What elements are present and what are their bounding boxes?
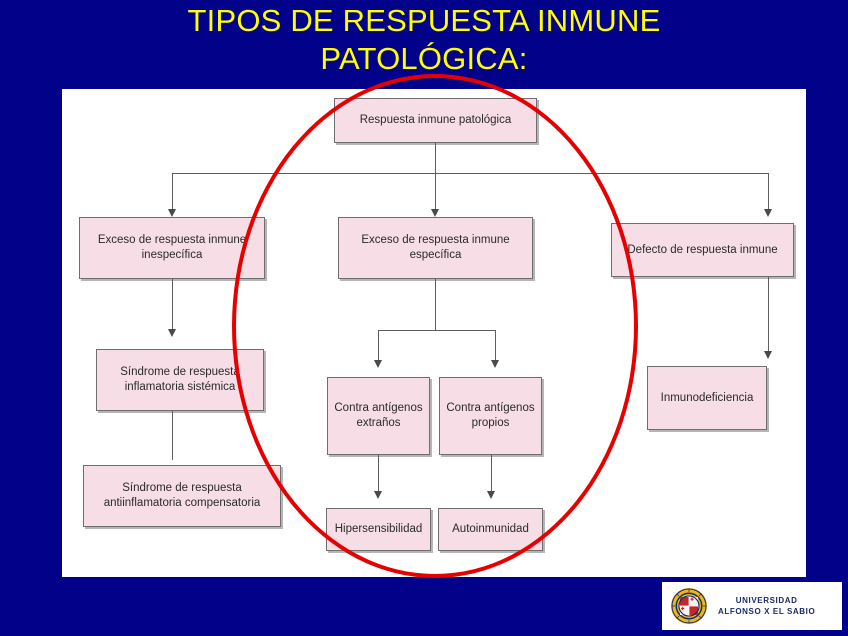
node-contra-antigenos-extranos[interactable]: Contra antígenos extraños — [327, 377, 430, 455]
node-label: Contra antígenos extraños — [334, 401, 422, 431]
node-autoinmunidad[interactable]: Autoinmunidad — [438, 508, 543, 551]
connector-especifica-stem — [435, 279, 436, 330]
node-label: Síndrome de respuesta inflamatoria sisté… — [120, 365, 240, 395]
arrowhead-to-inmunodeficiencia — [764, 351, 772, 359]
arrowhead-to-defecto — [764, 209, 772, 217]
arrowhead-to-autoinmunidad — [487, 491, 495, 499]
diagram-panel: Respuesta inmune patológica Exceso de re… — [62, 89, 806, 577]
university-seal-icon — [670, 587, 708, 625]
arrowhead-to-ag-propios — [491, 360, 499, 368]
node-label: Autoinmunidad — [452, 522, 529, 537]
connector-drop-right — [768, 173, 769, 212]
node-label: Exceso de respuesta inmune inespecífica — [98, 233, 246, 263]
arrowhead-to-especifica — [431, 209, 439, 217]
university-logo: UNIVERSIDAD ALFONSO X EL SABIO — [662, 582, 842, 630]
slide-title: TIPOS DE RESPUESTA INMUNE PATOLÓGICA: — [0, 2, 848, 78]
connector-drop-left — [172, 173, 173, 212]
connector-drop-center — [435, 173, 436, 212]
arrowhead-to-hipersensibilidad — [374, 491, 382, 499]
connector-drop-ag-propios — [495, 330, 496, 363]
node-label: Síndrome de respuesta antiinflamatoria c… — [104, 481, 261, 511]
slide-canvas: TIPOS DE RESPUESTA INMUNE PATOLÓGICA: Re… — [0, 0, 848, 636]
node-label: Contra antígenos propios — [446, 401, 534, 431]
arrowhead-to-ag-extranos — [374, 360, 382, 368]
node-inmunodeficiencia[interactable]: Inmunodeficiencia — [647, 366, 767, 430]
node-label: Defecto de respuesta inmune — [627, 243, 777, 258]
connector-sirs-to-cars — [172, 411, 173, 460]
node-label: Hipersensibilidad — [335, 522, 423, 537]
university-logo-text: UNIVERSIDAD ALFONSO X EL SABIO — [718, 595, 815, 617]
connector-defecto-to-inmunodeficiencia — [768, 277, 769, 353]
node-contra-antigenos-propios[interactable]: Contra antígenos propios — [439, 377, 542, 455]
node-hipersensibilidad[interactable]: Hipersensibilidad — [326, 508, 431, 551]
node-exceso-respuesta-inmune-inespecifica[interactable]: Exceso de respuesta inmune inespecífica — [79, 217, 265, 279]
node-label: Exceso de respuesta inmune específica — [361, 233, 509, 263]
connector-ag-extranos-to-hipersensibilidad — [378, 455, 379, 494]
connector-especifica-split-bar — [378, 330, 495, 331]
node-defecto-respuesta-inmune[interactable]: Defecto de respuesta inmune — [611, 223, 794, 277]
arrowhead-to-sirs — [168, 329, 176, 337]
node-respuesta-inmune-patologica[interactable]: Respuesta inmune patológica — [334, 98, 537, 143]
connector-drop-ag-extranos — [378, 330, 379, 363]
node-sindrome-respuesta-antiinflamatoria-compensatoria[interactable]: Síndrome de respuesta antiinflamatoria c… — [83, 465, 281, 527]
node-exceso-respuesta-inmune-especifica[interactable]: Exceso de respuesta inmune específica — [338, 217, 533, 279]
connector-inespecifica-to-sirs — [172, 279, 173, 331]
connector-ag-propios-to-autoinmunidad — [491, 455, 492, 494]
node-label: Respuesta inmune patológica — [360, 113, 512, 128]
connector-root-stem — [435, 143, 436, 173]
connector-distributor-bar — [172, 173, 768, 174]
node-sindrome-respuesta-inflamatoria-sistemica[interactable]: Síndrome de respuesta inflamatoria sisté… — [96, 349, 264, 411]
node-label: Inmunodeficiencia — [661, 391, 754, 406]
arrowhead-to-inespecifica — [168, 209, 176, 217]
